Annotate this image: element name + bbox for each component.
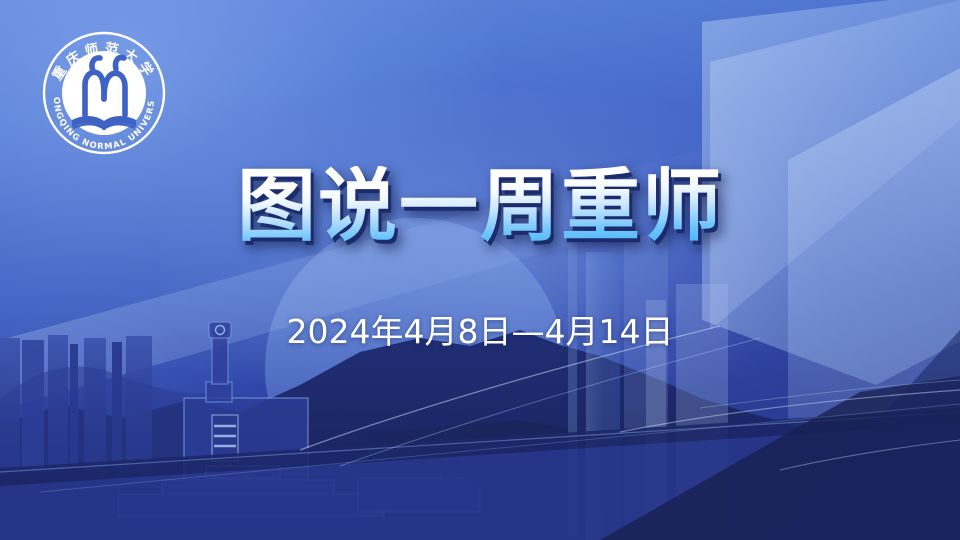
main-title: 图说一周重师 bbox=[237, 166, 723, 245]
university-logo: 重庆师范大学 CHONGQING NORMAL UNIVERSITY bbox=[32, 27, 176, 159]
date-range-block: 2024年4月8日—4月14日 bbox=[0, 305, 960, 353]
slide-canvas: 重庆师范大学 CHONGQING NORMAL UNIVERSITY 图说一周 bbox=[0, 0, 960, 540]
main-title-block: 图说一周重师 图说一周重师 bbox=[0, 166, 960, 245]
date-range-text: 2024年4月8日—4月14日 bbox=[287, 305, 674, 353]
university-seal-svg: 重庆师范大学 CHONGQING NORMAL UNIVERSITY bbox=[32, 27, 176, 159]
